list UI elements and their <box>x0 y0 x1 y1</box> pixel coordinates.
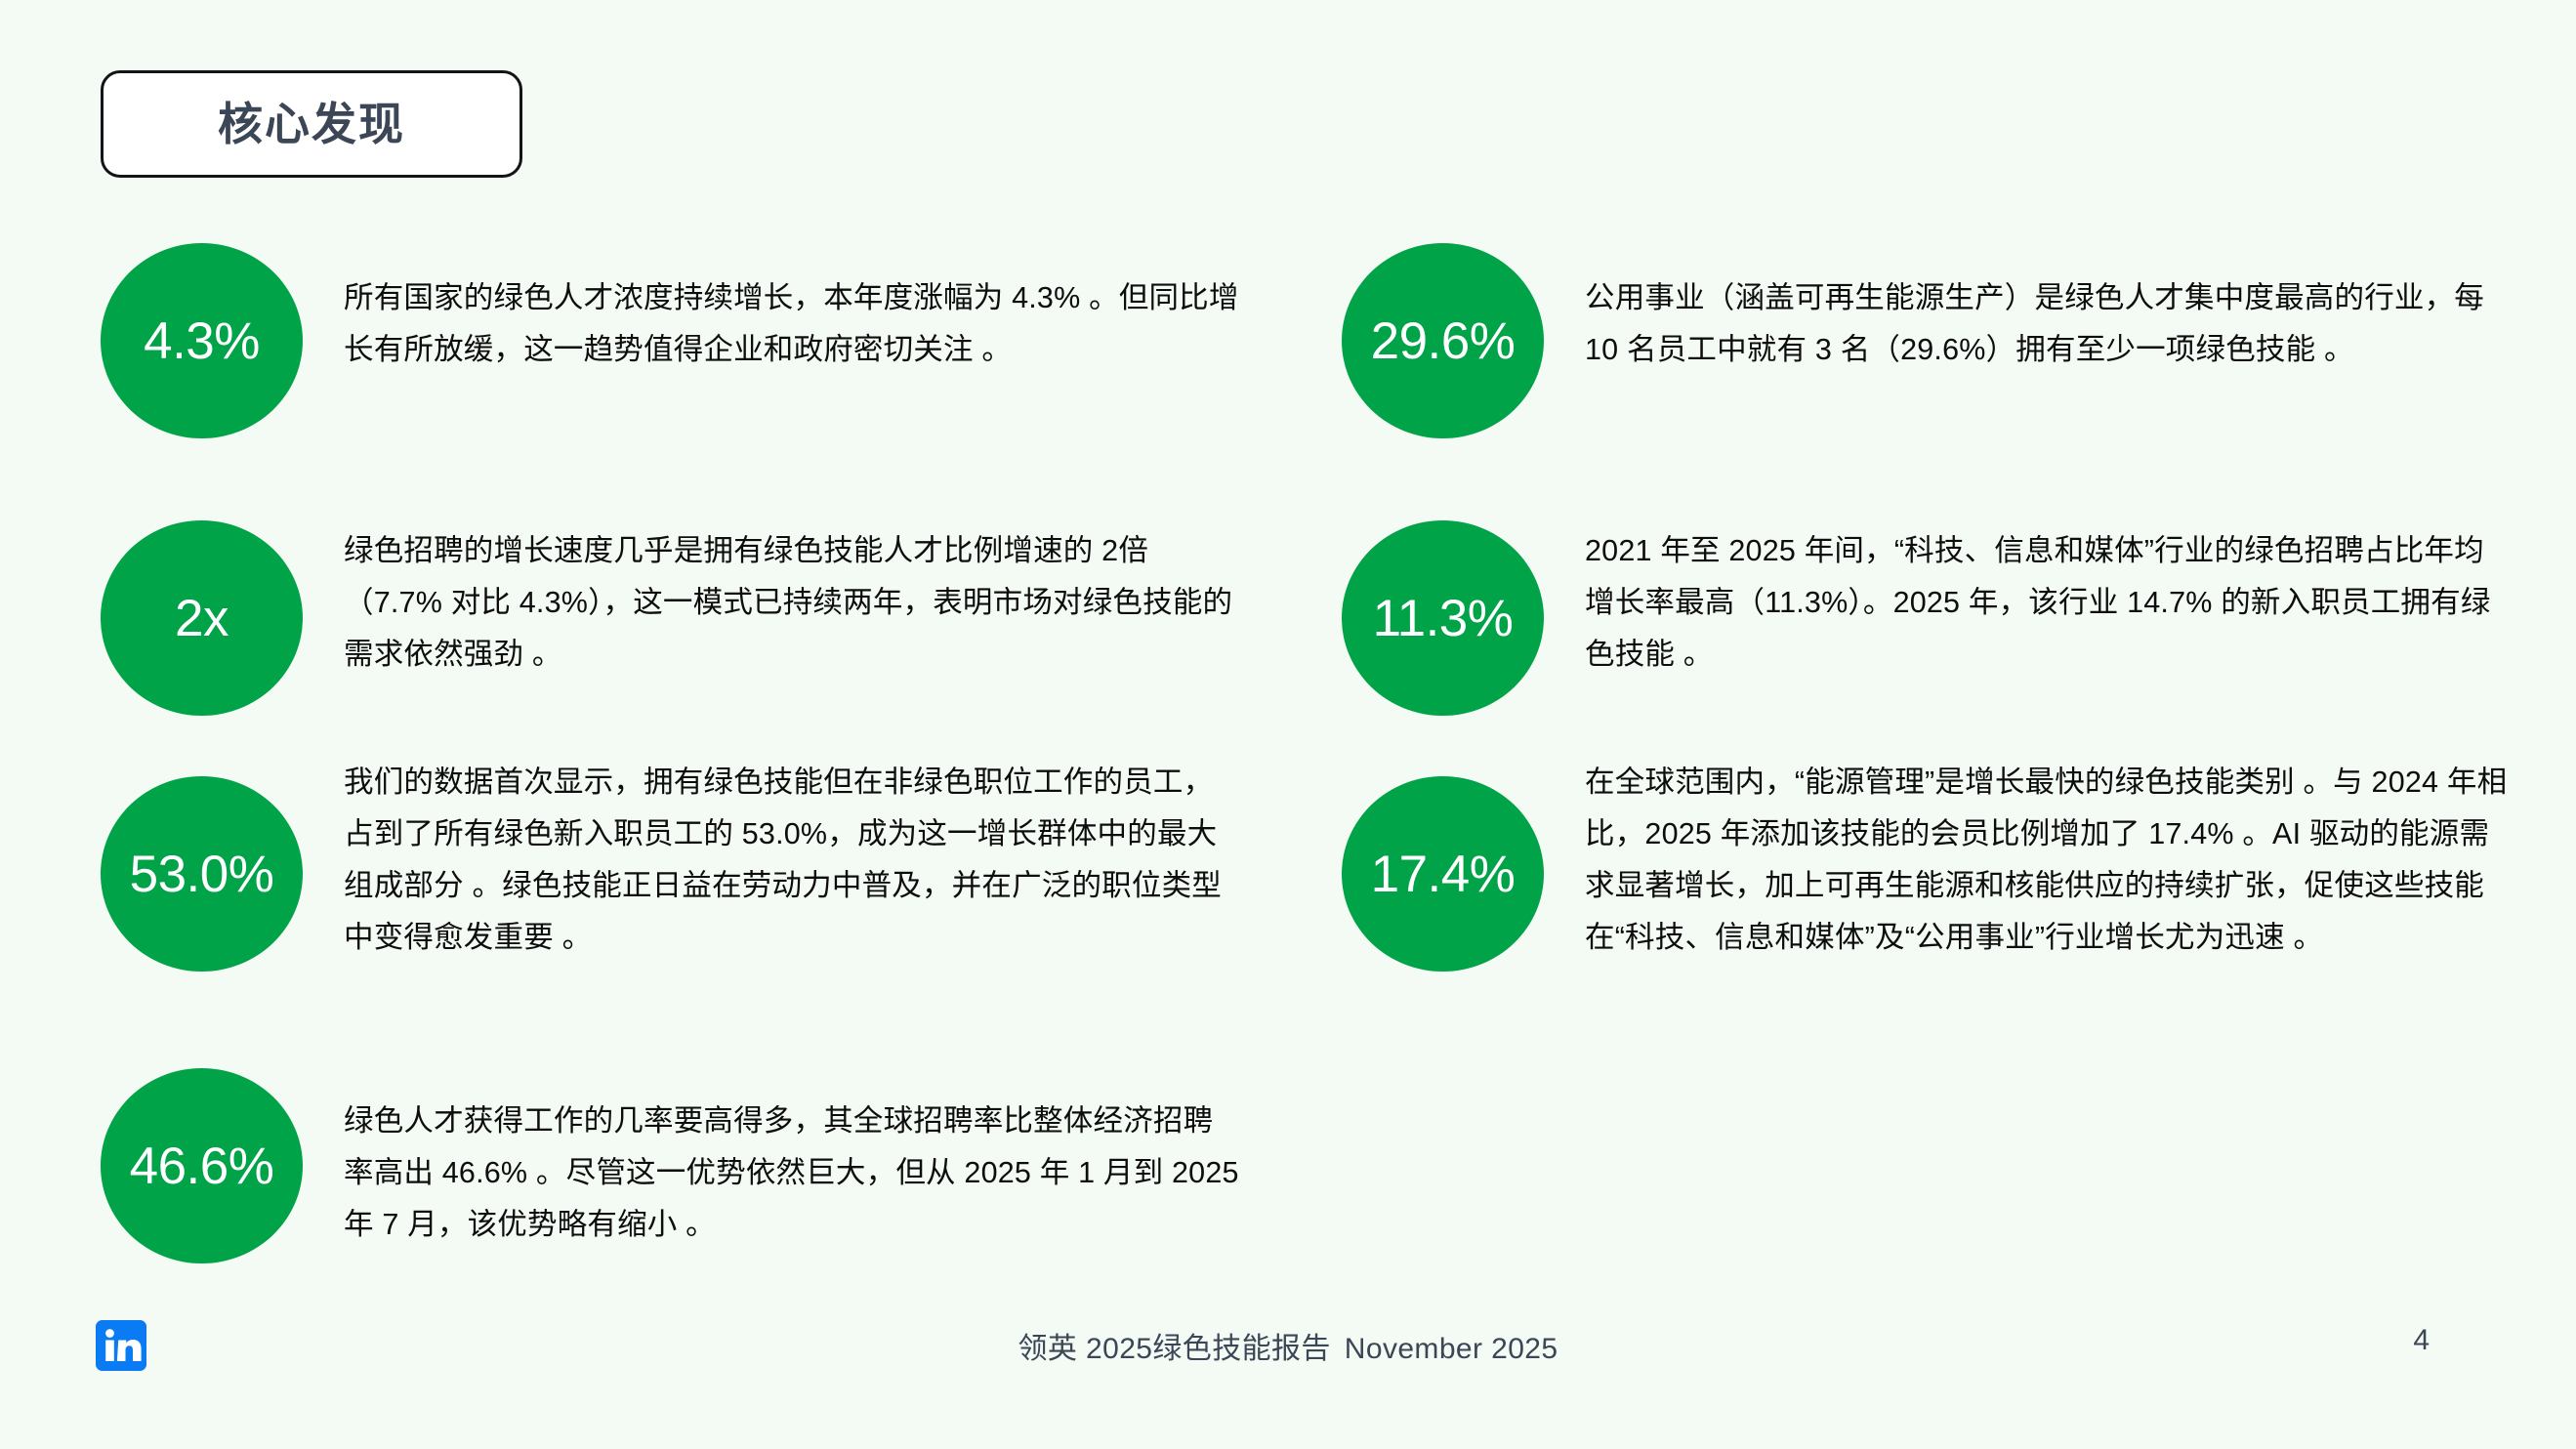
finding-description: 在全球范围内，“能源管理”是增长最快的绿色技能类别 。与 2024 年相比，20… <box>1585 757 2513 964</box>
page-number: 4 <box>2413 1324 2430 1357</box>
stat-bubble: 11.3% <box>1342 520 1544 716</box>
stat-value: 4.3% <box>144 315 260 367</box>
stat-bubble: 17.4% <box>1342 776 1544 972</box>
report-name: 领英 2025绿色技能报告 <box>1018 1333 1331 1365</box>
finding-description: 所有国家的绿色人才浓度持续增长，本年度涨幅为 4.3% 。但同比增长有所放缓，这… <box>344 272 1242 376</box>
findings-grid: 4.3% 所有国家的绿色人才浓度持续增长，本年度涨幅为 4.3% 。但同比增长有… <box>0 0 2576 1449</box>
stat-bubble: 2x <box>101 520 303 716</box>
stat-value: 46.6% <box>130 1140 274 1192</box>
slide-footer: 领英 2025绿色技能报告November 2025 4 <box>0 1303 2576 1449</box>
report-date: November 2025 <box>1345 1333 1558 1365</box>
finding-description: 绿色招聘的增长速度几乎是拥有绿色技能人才比例增速的 2倍（7.7% 对比 4.3… <box>344 525 1242 681</box>
finding-description: 绿色人才获得工作的几率要高得多，其全球招聘率比整体经济招聘率高出 46.6% 。… <box>344 1096 1242 1251</box>
stat-value: 29.6% <box>1371 315 1516 367</box>
slide-root: 核心发现 4.3% 所有国家的绿色人才浓度持续增长，本年度涨幅为 4.3% 。但… <box>0 0 2576 1449</box>
finding-description: 2021 年至 2025 年间，“科技、信息和媒体”行业的绿色招聘占比年均增长率… <box>1585 525 2513 681</box>
stat-bubble: 46.6% <box>101 1068 303 1263</box>
finding-description: 公用事业（涵盖可再生能源生产）是绿色人才集中度最高的行业，每 10 名员工中就有… <box>1585 272 2513 376</box>
stat-value: 53.0% <box>130 849 274 900</box>
stat-value: 2x <box>175 593 229 644</box>
stat-bubble: 53.0% <box>101 776 303 972</box>
footer-caption: 领英 2025绿色技能报告November 2025 <box>0 1324 2576 1367</box>
stat-bubble: 4.3% <box>101 243 303 438</box>
finding-description: 我们的数据首次显示，拥有绿色技能但在非绿色职位工作的员工，占到了所有绿色新入职员… <box>344 757 1242 964</box>
stat-value: 17.4% <box>1371 849 1516 900</box>
stat-bubble: 29.6% <box>1342 243 1544 438</box>
stat-value: 11.3% <box>1373 593 1514 644</box>
